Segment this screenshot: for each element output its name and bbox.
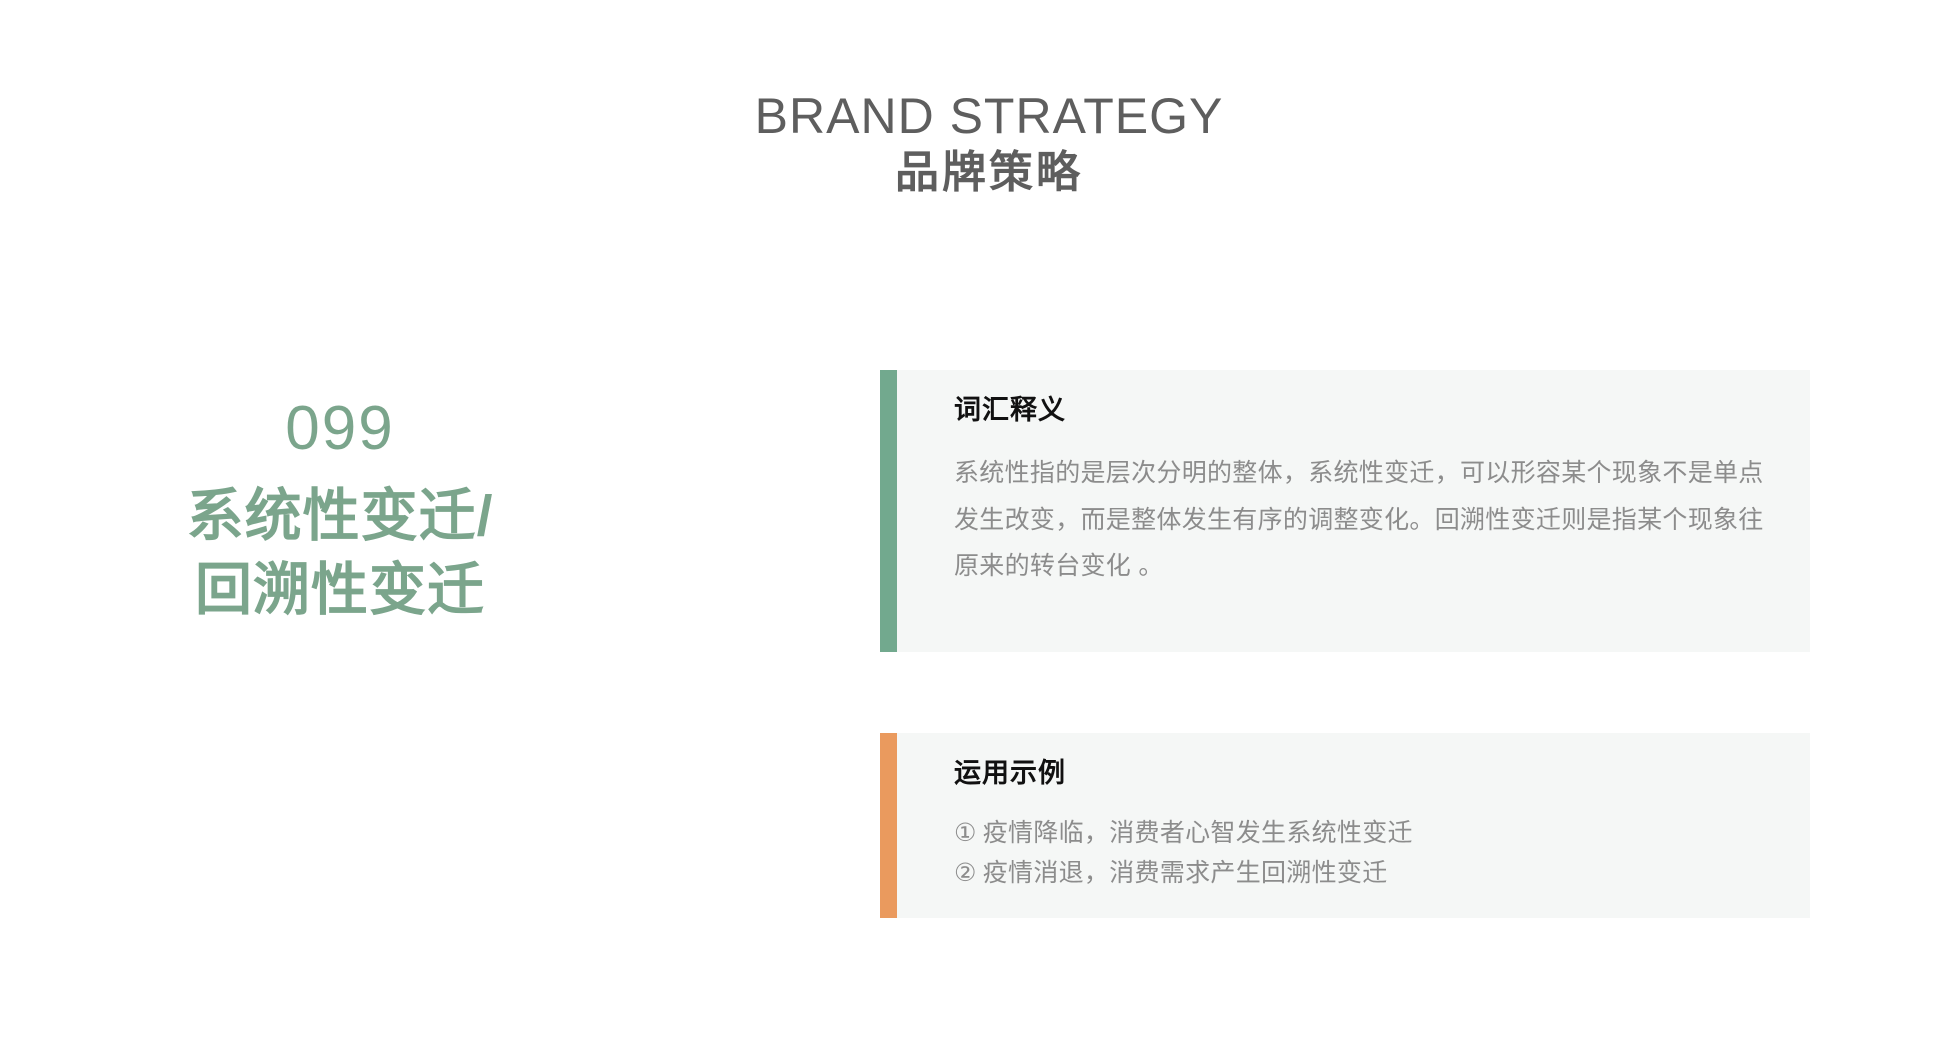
card-example-title: 运用示例 xyxy=(954,757,1770,789)
card-definition: 词汇释义 系统性指的是层次分明的整体，系统性变迁，可以形容某个现象不是单点发生改… xyxy=(880,370,1810,652)
header-title-cn: 品牌策略 xyxy=(0,144,1948,201)
card-accent-bar-orange xyxy=(880,733,897,918)
card-example-body: 运用示例 ①疫情降临，消费者心智发生系统性变迁 ②疫情消退，消费需求产生回溯性变… xyxy=(897,733,1810,918)
entry-title-line-1: 系统性变迁/ xyxy=(60,479,620,553)
list-item-text: 疫情降临，消费者心智发生系统性变迁 xyxy=(983,819,1413,847)
entry-block: 099 系统性变迁/ 回溯性变迁 xyxy=(60,395,620,627)
slide-canvas: BRAND STRATEGY 品牌策略 099 系统性变迁/ 回溯性变迁 词汇释… xyxy=(0,0,1948,1048)
card-definition-text: 系统性指的是层次分明的整体，系统性变迁，可以形容某个现象不是单点发生改变，而是整… xyxy=(954,450,1770,589)
list-item: ②疫情消退，消费需求产生回溯性变迁 xyxy=(954,853,1770,893)
card-definition-body: 词汇释义 系统性指的是层次分明的整体，系统性变迁，可以形容某个现象不是单点发生改… xyxy=(897,370,1810,652)
circled-number-icon: ② xyxy=(954,859,977,887)
list-item: ①疫情降临，消费者心智发生系统性变迁 xyxy=(954,813,1770,853)
header-title-en: BRAND STRATEGY xyxy=(0,88,1948,144)
list-item-text: 疫情消退，消费需求产生回溯性变迁 xyxy=(983,859,1388,887)
entry-title-line-2: 回溯性变迁 xyxy=(60,553,620,627)
card-example: 运用示例 ①疫情降临，消费者心智发生系统性变迁 ②疫情消退，消费需求产生回溯性变… xyxy=(880,733,1810,918)
card-definition-title: 词汇释义 xyxy=(954,394,1770,426)
slide-header: BRAND STRATEGY 品牌策略 xyxy=(0,88,1948,201)
entry-number: 099 xyxy=(60,395,620,463)
entry-title: 系统性变迁/ 回溯性变迁 xyxy=(60,479,620,627)
card-example-list: ①疫情降临，消费者心智发生系统性变迁 ②疫情消退，消费需求产生回溯性变迁 xyxy=(954,813,1770,893)
circled-number-icon: ① xyxy=(954,819,977,847)
card-accent-bar-green xyxy=(880,370,897,652)
